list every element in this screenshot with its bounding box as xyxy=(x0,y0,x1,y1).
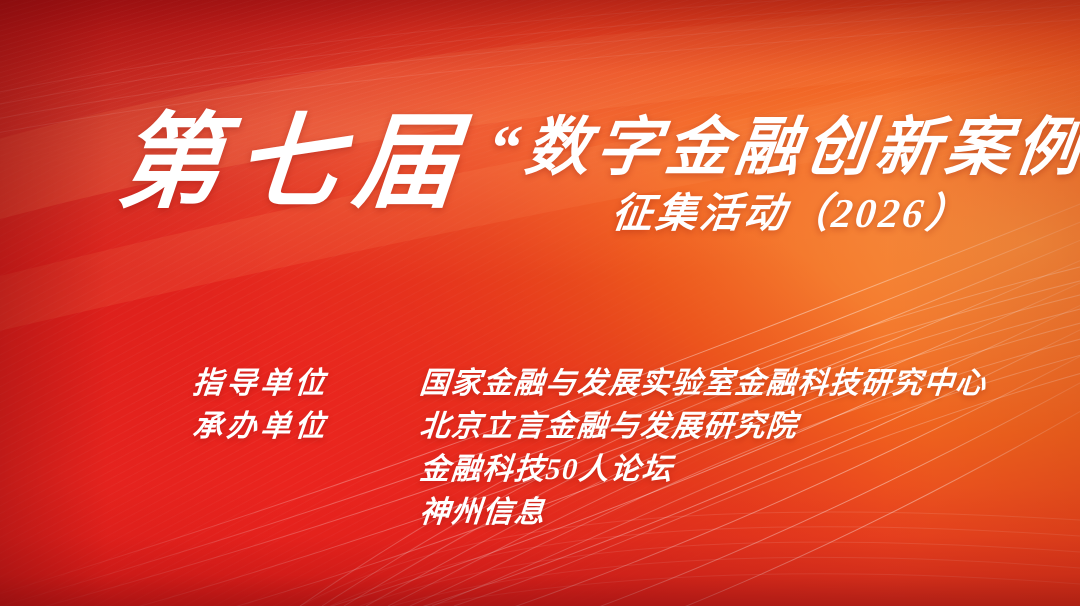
credit-row: 金融科技50人论坛 xyxy=(193,444,1033,487)
credit-value: 国家金融与发展实验室金融科技研究中心 xyxy=(418,358,989,402)
credit-value: 金融科技50人论坛 xyxy=(418,444,675,488)
poster-canvas: 第七届 “数字金融创新案例” 征集活动（2026） 指导单位 国家金融与发展实验… xyxy=(0,0,1080,606)
poster-content: 第七届 “数字金融创新案例” 征集活动（2026） 指导单位 国家金融与发展实验… xyxy=(0,0,1080,606)
headline-quoted-title: “数字金融创新案例” xyxy=(484,112,1080,184)
headline-subtitle: 征集活动（2026） xyxy=(609,190,973,237)
credit-row: 指导单位 国家金融与发展实验室金融科技研究中心 xyxy=(193,358,1033,401)
headline-main: 第七届 xyxy=(113,108,477,220)
credit-label: 指导单位 xyxy=(191,358,422,402)
credit-value: 北京立言金融与发展研究院 xyxy=(418,401,800,445)
credit-row: 承办单位 北京立言金融与发展研究院 xyxy=(193,401,1033,444)
credit-row: 神州信息 xyxy=(193,487,1033,530)
credit-value: 神州信息 xyxy=(418,487,548,531)
credits-block: 指导单位 国家金融与发展实验室金融科技研究中心 承办单位 北京立言金融与发展研究… xyxy=(193,358,1033,530)
credit-label: 承办单位 xyxy=(191,401,422,445)
